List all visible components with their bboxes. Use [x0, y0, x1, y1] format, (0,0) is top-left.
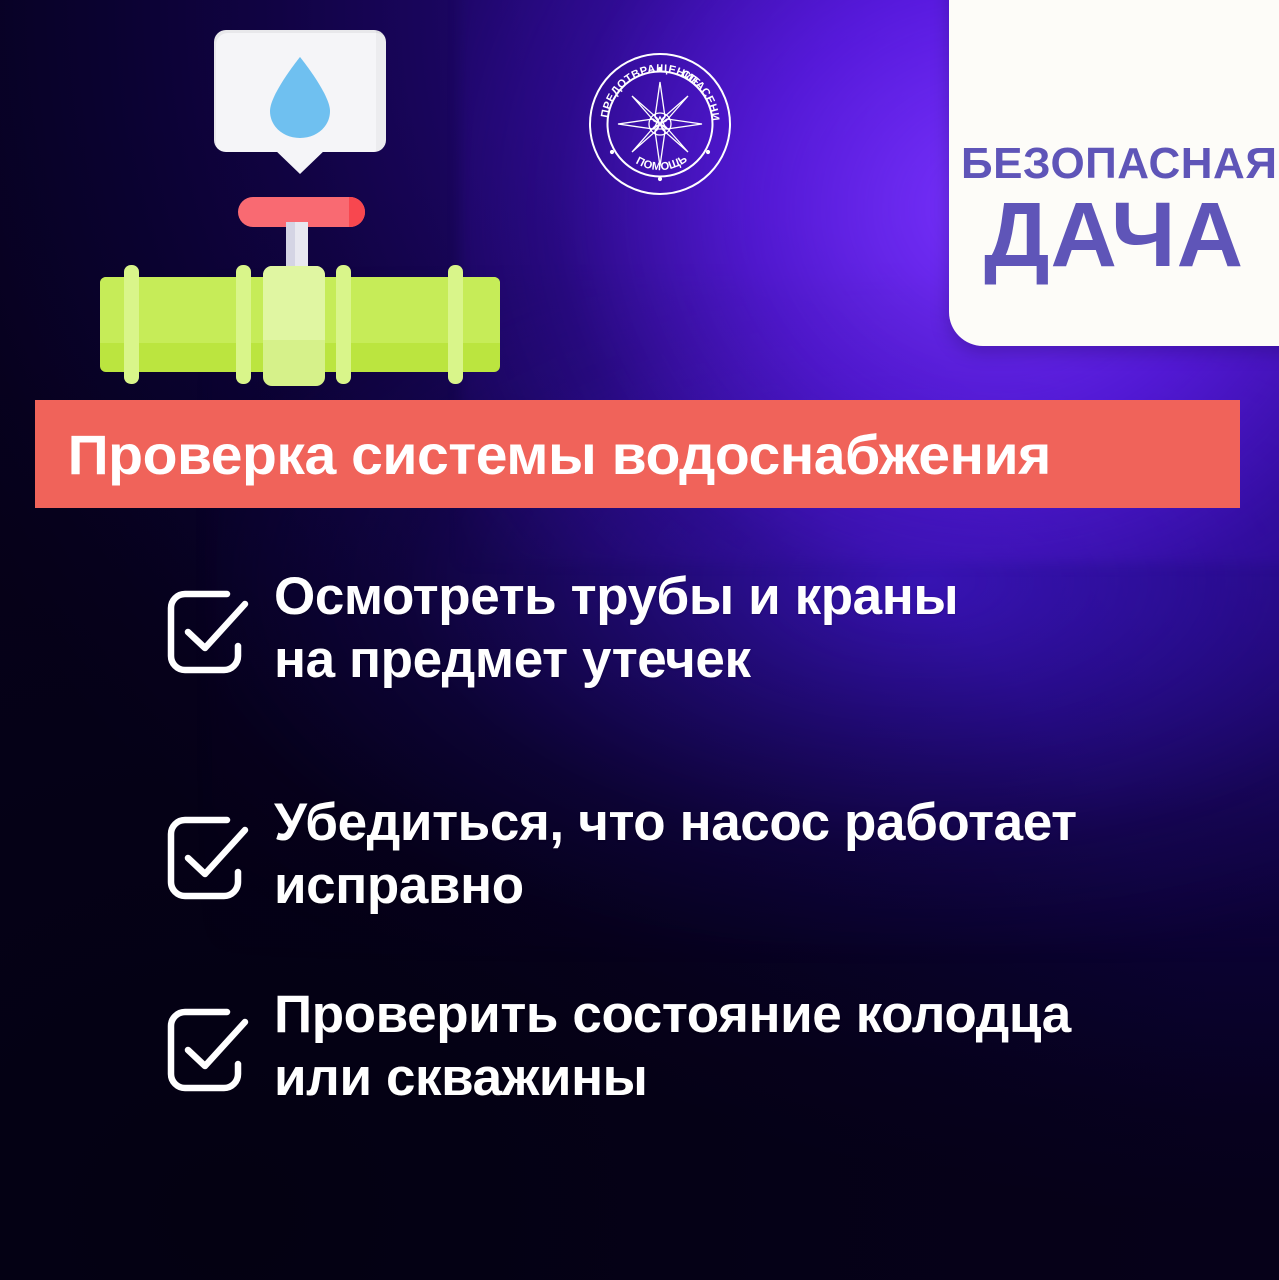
- list-item: Проверить состояние колодца или скважины: [0, 984, 1279, 1109]
- checkbox-checked-icon: [164, 812, 252, 904]
- speech-bubble: [214, 30, 386, 152]
- checkbox-checked-icon: [164, 586, 252, 678]
- page-title: Проверка системы водоснабжения: [35, 422, 1051, 487]
- water-drop-icon: [262, 54, 338, 140]
- valve-body-highlight: [263, 266, 325, 340]
- pipe-ring: [448, 265, 463, 384]
- list-item-line-2: исправно: [274, 855, 1077, 918]
- list-item-line-1: Убедиться, что насос работает: [274, 792, 1077, 855]
- list-item-text: Осмотреть трубы и краны на предмет утече…: [274, 566, 958, 691]
- list-item-line-1: Осмотреть трубы и краны: [274, 566, 958, 629]
- checkbox-checked-icon: [164, 1004, 252, 1096]
- list-item: Убедиться, что насос работает исправно: [0, 792, 1279, 917]
- valve-body: [263, 266, 325, 386]
- list-item-line-1: Проверить состояние колодца: [274, 984, 1071, 1047]
- valve-handle-shade: [349, 197, 365, 227]
- water-pipe-valve-illustration: [86, 22, 516, 390]
- emercom-emblem-logo: ПРЕДОТВРАЩЕНИЕ СПАСЕНИЕ ПОМОЩЬ: [588, 52, 732, 196]
- pipe-ring: [236, 265, 251, 384]
- brand-line-1: БЕЗОПАСНАЯ: [961, 142, 1267, 185]
- pipe-ring: [124, 265, 139, 384]
- logo-star-icon: [618, 82, 702, 166]
- pipe-ring: [336, 265, 351, 384]
- list-item-line-2: на предмет утечек: [274, 629, 958, 692]
- list-item: Осмотреть трубы и краны на предмет утече…: [0, 566, 1279, 691]
- safety-infographic-poster: ПРЕДОТВРАЩЕНИЕ СПАСЕНИЕ ПОМОЩЬ БЕЗОПАСНА: [0, 0, 1279, 1280]
- brand-badge-card: БЕЗОПАСНАЯ ДАЧА: [949, 0, 1279, 346]
- speech-bubble-shade: [376, 30, 386, 152]
- list-item-text: Убедиться, что насос работает исправно: [274, 792, 1077, 917]
- list-item-text: Проверить состояние колодца или скважины: [274, 984, 1071, 1109]
- title-banner: Проверка системы водоснабжения: [35, 400, 1240, 508]
- list-item-line-2: или скважины: [274, 1047, 1071, 1110]
- brand-badge-text: БЕЗОПАСНАЯ ДАЧА: [949, 142, 1267, 281]
- brand-line-2: ДАЧА: [961, 189, 1267, 281]
